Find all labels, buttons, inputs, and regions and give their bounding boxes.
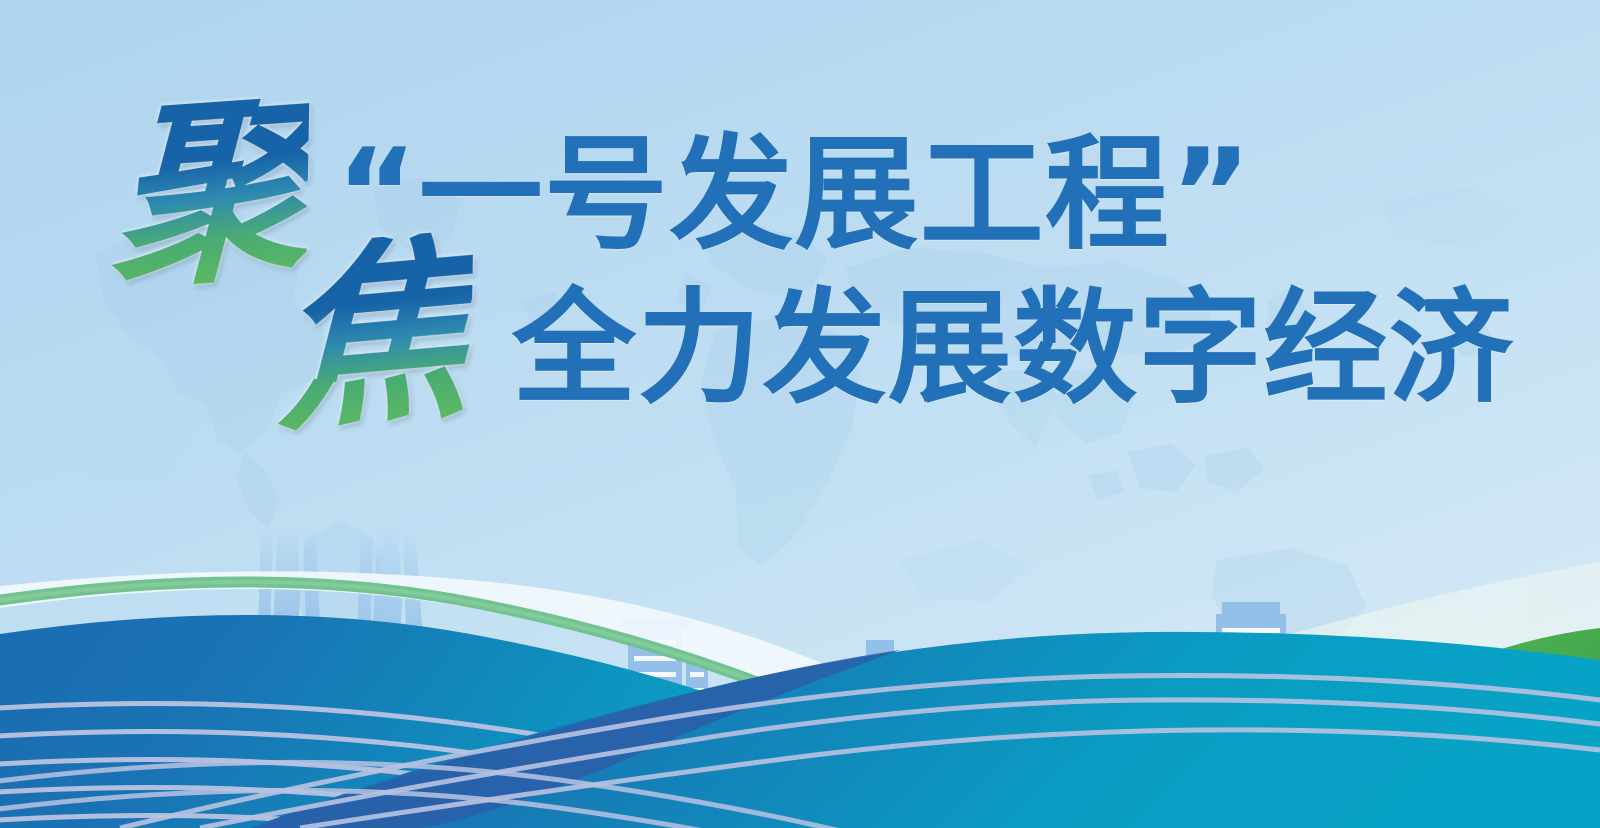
blue-wave-band — [0, 0, 1600, 828]
news-banner: 聚 焦 “一号发展工程” 全力发展数字经济 — [0, 0, 1600, 828]
